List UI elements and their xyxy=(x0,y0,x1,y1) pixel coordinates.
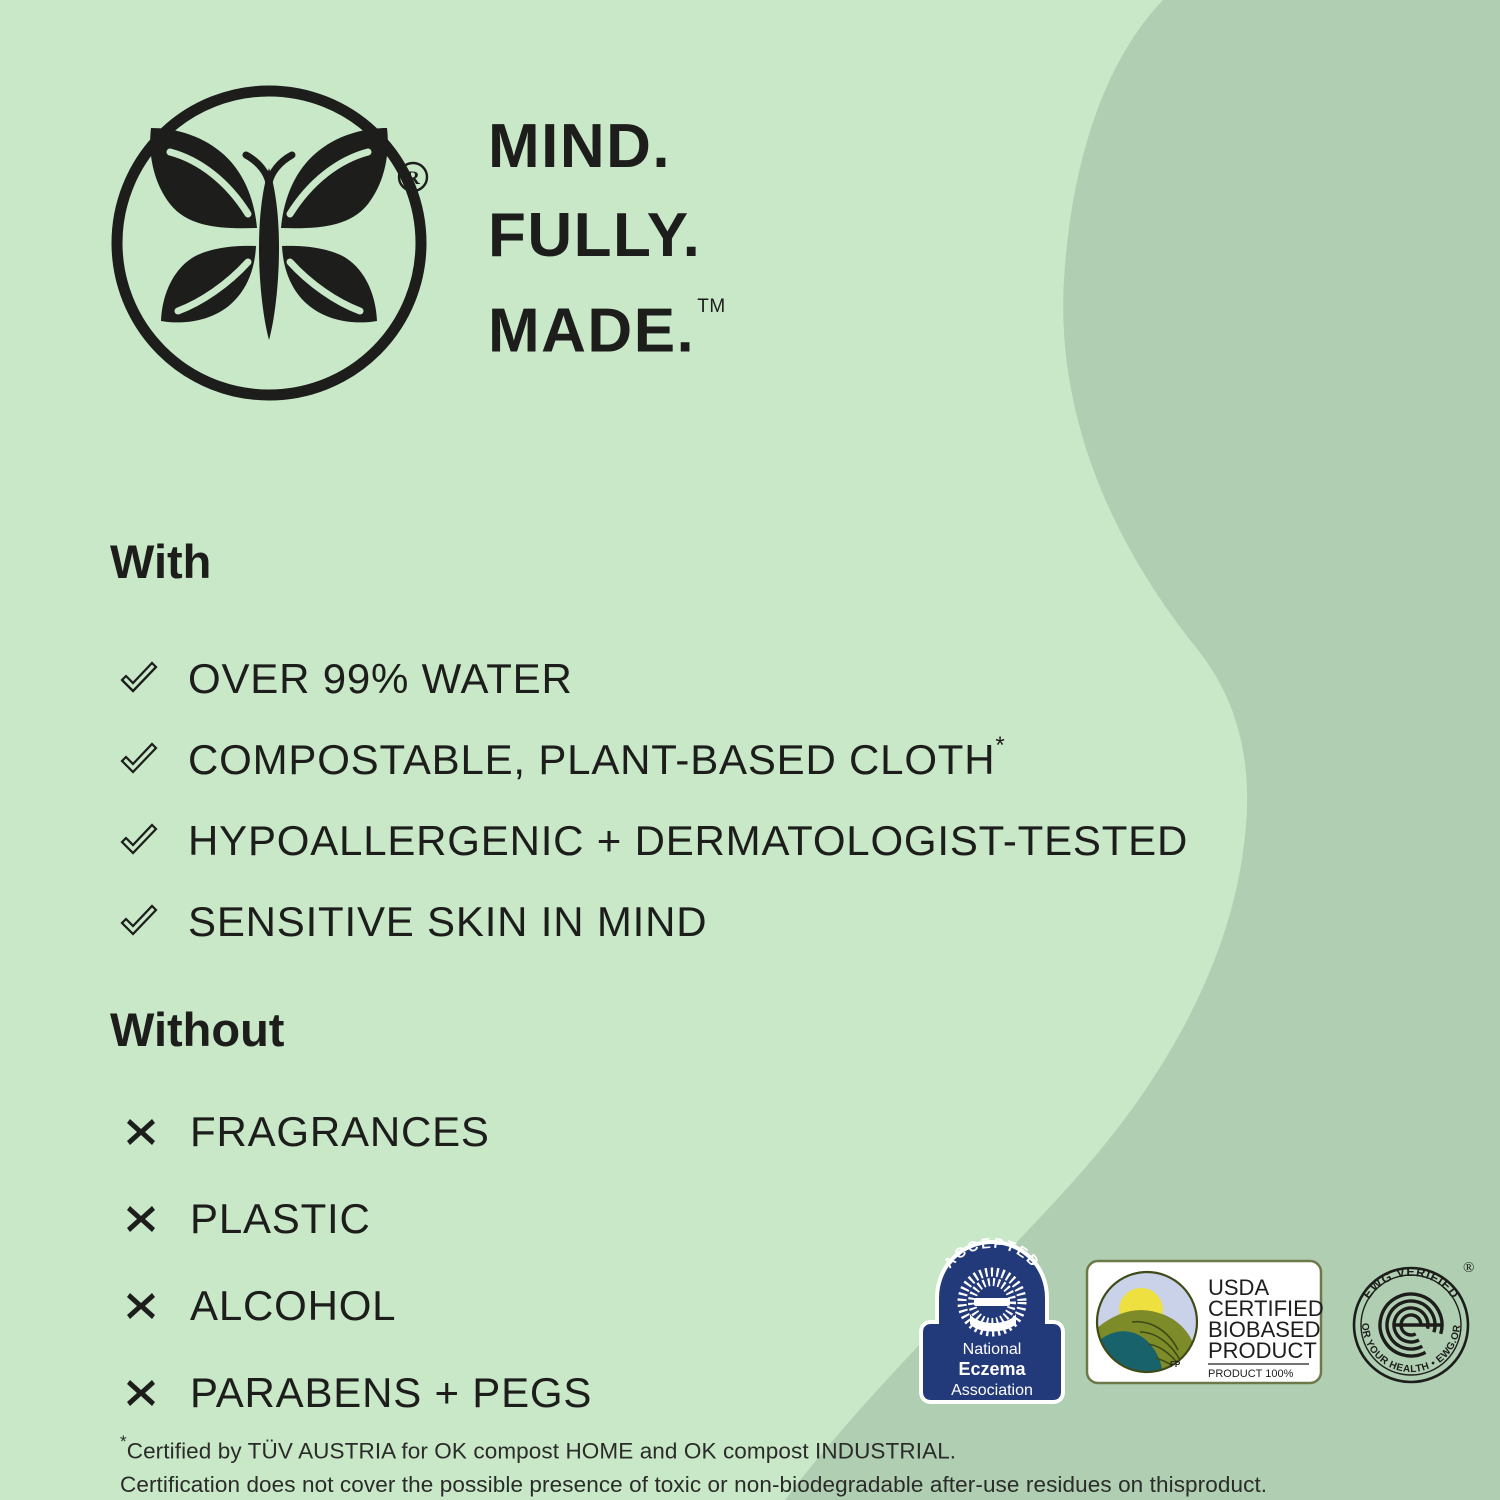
footnote-disclaimer: *Certified by TÜV AUSTRIA for OK compost… xyxy=(120,1428,1300,1500)
ewg-top-text: EWG VERIFIED xyxy=(1360,1265,1462,1301)
svg-text:EWG VERIFIED: EWG VERIFIED xyxy=(1360,1265,1462,1301)
list-item: HYPOALLERGENIC + DERMATOLOGIST-TESTED xyxy=(118,800,1188,881)
wordmark-line-3-text: MADE. xyxy=(488,297,695,366)
footnote-line-1: *Certified by TÜV AUSTRIA for OK compost… xyxy=(120,1428,1300,1468)
check-icon xyxy=(118,658,188,700)
cross-icon xyxy=(118,1289,190,1323)
cross-icon xyxy=(118,1115,190,1149)
list-item: OVER 99% WATER xyxy=(118,638,1188,719)
claim-label: SENSITIVE SKIN IN MIND xyxy=(188,898,707,946)
list-item: ALCOHOL xyxy=(118,1262,592,1349)
with-section-heading: With xyxy=(110,534,211,589)
cross-icon xyxy=(118,1376,190,1410)
wordmark-line-1: MIND. xyxy=(488,102,868,191)
usda-corner-code: FP xyxy=(1170,1360,1181,1369)
footnote-asterisk: * xyxy=(120,1432,127,1451)
brand-wordmark: MIND. FULLY. MADE.TM xyxy=(488,102,868,376)
brand-logo-lockup: R MIND. FULLY. MADE.TM xyxy=(104,64,864,414)
list-item: FRAGRANCES xyxy=(118,1088,592,1175)
registered-trademark-icon: R xyxy=(396,160,430,194)
usda-product-percent: PRODUCT 100% xyxy=(1208,1368,1294,1380)
butterfly-in-circle-logo xyxy=(104,78,434,408)
nea-line-2: Eczema xyxy=(958,1359,1026,1379)
national-eczema-association-badge: ACCEPTED National Eczema Association xyxy=(912,1238,1072,1406)
usda-certified-biobased-product-badge: FP USDA CERTIFIED BIOBASED PRODUCT PRODU… xyxy=(1084,1258,1324,1386)
nea-line-1: National xyxy=(963,1341,1022,1358)
check-icon xyxy=(118,820,188,862)
footnote-line-2: Certification does not cover the possibl… xyxy=(120,1468,1300,1500)
check-icon xyxy=(118,901,188,943)
claim-label: PLASTIC xyxy=(190,1195,371,1243)
product-claims-graphic: R MIND. FULLY. MADE.TM With OVER 99% WAT… xyxy=(0,0,1500,1500)
claim-label: FRAGRANCES xyxy=(190,1108,490,1156)
claim-label: HYPOALLERGENIC + DERMATOLOGIST-TESTED xyxy=(188,817,1188,865)
ewg-verified-badge: EWG VERIFIED FOR YOUR HEALTH • EWG.ORG ® xyxy=(1340,1252,1482,1394)
claim-label: OVER 99% WATER xyxy=(188,655,573,703)
claim-label: COMPOSTABLE, PLANT-BASED CLOTH* xyxy=(188,736,1006,784)
list-item: PARABENS + PEGS xyxy=(118,1349,592,1436)
claim-label: ALCOHOL xyxy=(190,1282,396,1330)
ewg-registered-mark: ® xyxy=(1463,1260,1474,1276)
list-item: SENSITIVE SKIN IN MIND xyxy=(118,881,1188,962)
without-section-heading: Without xyxy=(110,1002,284,1057)
wordmark-line-2: FULLY. xyxy=(488,191,868,280)
list-item: PLASTIC xyxy=(118,1175,592,1262)
wordmark-line-3: MADE.TM xyxy=(488,280,868,376)
nea-line-3: Association xyxy=(951,1382,1033,1399)
claim-label: PARABENS + PEGS xyxy=(190,1369,592,1417)
without-claims-list: FRAGRANCES PLASTIC ALCOHOL xyxy=(118,1088,592,1436)
trademark-symbol: TM xyxy=(697,296,725,317)
check-icon xyxy=(118,739,188,781)
svg-text:R: R xyxy=(406,168,420,189)
cross-icon xyxy=(118,1202,190,1236)
list-item: COMPOSTABLE, PLANT-BASED CLOTH* xyxy=(118,719,1188,800)
with-claims-list: OVER 99% WATER COMPOSTABLE, PLANT-BASED … xyxy=(118,638,1188,962)
certification-badge-row: ACCEPTED National Eczema Association xyxy=(912,1238,1492,1408)
usda-line-4: PRODUCT xyxy=(1208,1338,1317,1363)
